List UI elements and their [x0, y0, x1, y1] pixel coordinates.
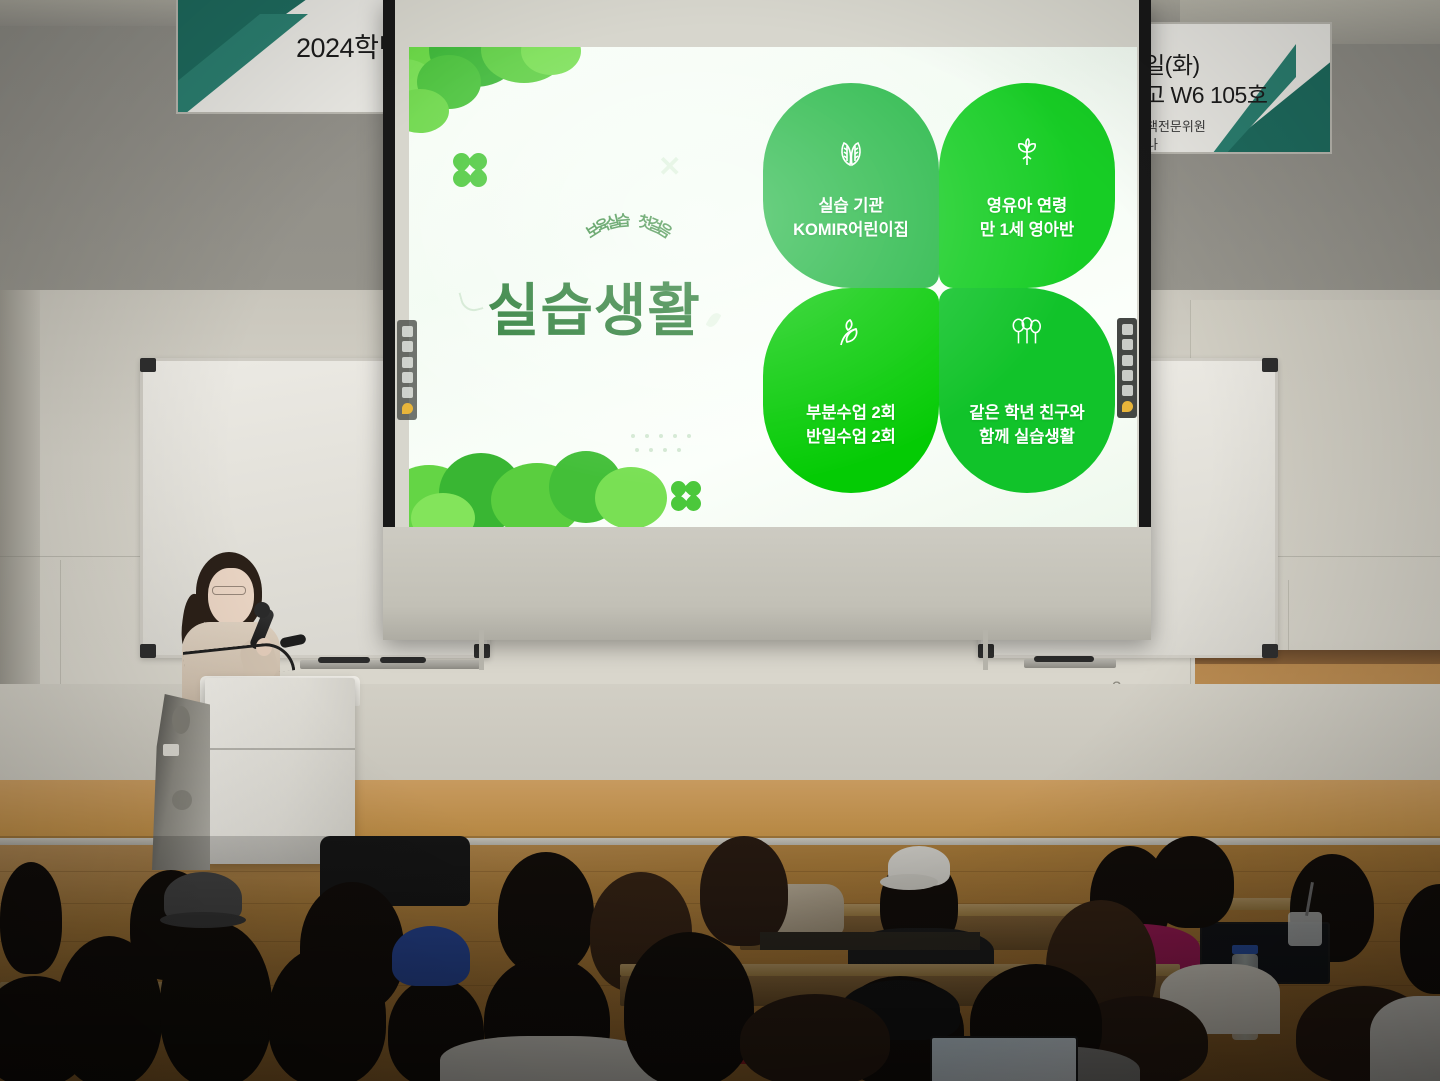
projector-toolbar-right[interactable] [1117, 318, 1137, 418]
screen-legs [383, 630, 1151, 670]
gooseneck-microphone [184, 632, 304, 682]
audience-head [1400, 884, 1440, 994]
clover-icon [453, 153, 487, 187]
drink-cup [1288, 912, 1322, 946]
audience-head [268, 946, 386, 1081]
right-arrow-icon[interactable] [402, 387, 413, 398]
leaf-pair-icon [834, 316, 868, 350]
audience-head [740, 994, 890, 1081]
lectern-knob [172, 706, 190, 734]
audience-head [0, 862, 62, 974]
banner-right-line1: 일(화) [1144, 46, 1200, 80]
lecture-hall-scene: 3 2024학년 일(화) 고 W6 105호 책전문위원 나 리아 상무 [0, 0, 1440, 1081]
lectern-seam [205, 748, 355, 750]
right-arrow-icon[interactable] [1122, 385, 1133, 396]
whiteboard-corner [140, 358, 156, 372]
petal-top-right[interactable]: 영유아 연령 만 1세 영아반 [939, 83, 1115, 288]
clover-blob [595, 467, 667, 527]
window-icon[interactable] [1122, 355, 1133, 366]
whiteboard-corner [1262, 358, 1278, 372]
back-icon[interactable] [402, 341, 413, 352]
screen-blank-area [383, 527, 1151, 640]
audience-area [0, 836, 1440, 1081]
slide-title: 실습생활 [487, 265, 701, 347]
projector-toolbar-left[interactable] [397, 320, 417, 420]
desk-shadow [760, 932, 980, 950]
slide-eyebrow: 보육실습 첫걸음 [509, 195, 749, 245]
four-petal-diagram: 실습 기관 KOMIR어린이집 [763, 83, 1115, 493]
audience-head [56, 936, 162, 1081]
whiteboard-marker [318, 657, 370, 663]
lectern-knob [172, 790, 192, 810]
petal-bottom-left-text: 부분수업 2회 반일수업 2회 [806, 402, 896, 450]
refresh-icon[interactable] [1122, 401, 1133, 412]
audience-head [624, 932, 754, 1081]
sprout-icon [1010, 135, 1044, 169]
petal-bottom-right-text: 같은 학년 친구와 함께 실습생활 [969, 402, 1084, 450]
petal-top-left[interactable]: 실습 기관 KOMIR어린이집 [763, 83, 939, 288]
window-icon[interactable] [402, 357, 413, 368]
presenter-face [208, 568, 254, 626]
back-icon[interactable] [1122, 339, 1133, 350]
refresh-icon[interactable] [402, 403, 413, 414]
banner-right: 일(화) 고 W6 105호 책전문위원 나 리아 상무 [1136, 22, 1332, 154]
screen-surface: ✕ 보육실습 첫걸음 실습생활 [395, 0, 1139, 575]
settings-icon[interactable] [1122, 324, 1133, 335]
projection-screen: ✕ 보육실습 첫걸음 실습생활 [383, 0, 1151, 640]
audience-head [1150, 836, 1234, 928]
left-arrow-icon[interactable] [1122, 370, 1133, 381]
whiteboard-corner [140, 644, 156, 658]
lectern-control-panel[interactable] [163, 744, 179, 756]
whiteboard-corner [1262, 644, 1278, 658]
two-leaves-icon [834, 135, 868, 169]
audience-head [160, 922, 272, 1081]
petal-bottom-left[interactable]: 부분수업 2회 반일수업 2회 [763, 288, 939, 493]
cap-gray [164, 872, 242, 924]
x-mark-decoration: ✕ [658, 150, 681, 183]
presentation-slide: ✕ 보육실습 첫걸음 실습생활 [409, 47, 1137, 527]
left-arrow-icon[interactable] [402, 372, 413, 383]
banner-right-small3: 리아 상무 [1146, 152, 1197, 154]
audience-head [700, 836, 788, 946]
glasses-icon [212, 586, 246, 595]
petal-bottom-right[interactable]: 같은 학년 친구와 함께 실습생활 [939, 288, 1115, 493]
squiggle-decoration [458, 288, 483, 314]
banner-right-small1: 책전문위원 [1146, 116, 1206, 135]
leaf-speck-decoration [706, 311, 722, 329]
laptop[interactable] [930, 1036, 1078, 1081]
microphone-head [254, 602, 270, 618]
petal-top-left-text: 실습 기관 KOMIR어린이집 [793, 195, 909, 243]
settings-icon[interactable] [402, 326, 413, 337]
clover-icon [671, 481, 701, 511]
petal-top-right-text: 영유아 연령 만 1세 영아반 [980, 195, 1074, 243]
beanie-blue [392, 926, 470, 986]
audience-shoulders [1370, 996, 1440, 1081]
baseball-cap-white [888, 846, 950, 886]
three-trees-icon [1010, 316, 1044, 350]
banner-right-line2: 고 W6 105호 [1144, 76, 1267, 110]
dot-grid-decoration [631, 434, 697, 456]
